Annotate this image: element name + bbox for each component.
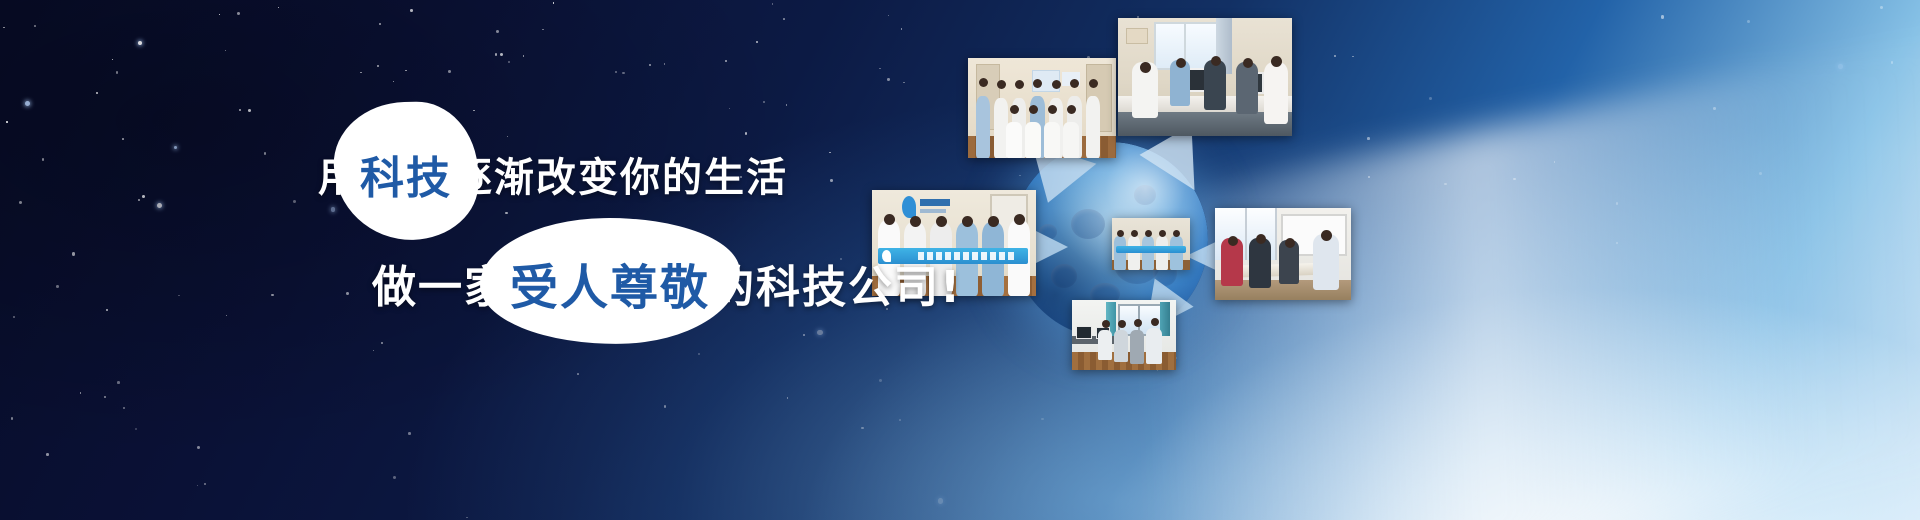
photo-person: [976, 96, 990, 158]
photo-person-head: [1015, 80, 1024, 89]
photo-person-head: [962, 216, 973, 227]
photo-person-head: [1070, 79, 1079, 88]
line2-highlight-group: 受人尊敬: [510, 248, 710, 318]
line1-suffix: 逐渐改变你的生活: [452, 145, 788, 203]
photo-person-head: [936, 216, 947, 227]
photo-team-group-office[interactable]: [968, 58, 1116, 158]
photo-person-head: [1029, 105, 1038, 114]
photo-person: [1146, 328, 1162, 364]
star: [1429, 97, 1432, 100]
photo-person-head: [1052, 80, 1061, 89]
photo-person: [1313, 234, 1339, 290]
photo-person-head: [1010, 105, 1019, 114]
photo-person-head: [1117, 230, 1124, 237]
photo-person-head: [1140, 62, 1151, 73]
photo-person: [1142, 236, 1154, 270]
photo-curtain: [1160, 302, 1170, 336]
photo-person-head: [1067, 105, 1076, 114]
photo-person: [1006, 122, 1022, 158]
photo-person-head: [1256, 234, 1266, 244]
photo-person: [1114, 330, 1128, 362]
photo-person: [1063, 122, 1079, 158]
photo-person: [1098, 330, 1112, 360]
star: [1334, 55, 1336, 57]
line1-highlight-group: 科技: [360, 142, 452, 206]
photo-person-head: [979, 78, 988, 87]
photo-person-head: [1211, 56, 1221, 66]
photo-person-head: [988, 216, 999, 227]
photo-person: [1236, 62, 1258, 114]
photo-person: [1128, 236, 1140, 270]
photo-person: [1204, 60, 1226, 110]
photo-person-head: [1321, 230, 1332, 241]
photo-person: [1130, 330, 1144, 364]
photo-person: [1264, 62, 1288, 124]
photo-person-head: [1048, 105, 1057, 114]
photo-company-logo: [902, 196, 916, 218]
photo-wall-frame: [1126, 28, 1148, 44]
star: [1880, 6, 1883, 9]
photo-person-head: [1014, 214, 1025, 225]
line2-highlight-text: 受人尊敬: [510, 248, 710, 318]
photo-banner-strip: [1116, 246, 1186, 253]
photo-person-head: [1176, 58, 1186, 68]
hero-banner: 用 科技 逐渐改变你的生活 做一家 受人尊敬 的科技公司!: [0, 0, 1920, 520]
photo-monitor: [1076, 326, 1092, 339]
photo-person: [1170, 236, 1183, 270]
photo-person-head: [1271, 56, 1282, 67]
photo-person: [1156, 236, 1168, 270]
photo-window-mullion: [1138, 304, 1140, 332]
photo-person: [1249, 238, 1271, 288]
photo-office-workstations[interactable]: [1118, 18, 1292, 136]
photo-window-mullion: [1245, 208, 1247, 260]
photo-person-head: [1131, 230, 1138, 237]
star: [1367, 137, 1370, 140]
photo-person: [1086, 96, 1100, 158]
line1-highlight-text: 科技: [360, 142, 452, 206]
photo-team-small[interactable]: [1112, 218, 1190, 270]
photo-person: [1025, 122, 1041, 158]
photo-person-head: [1159, 230, 1166, 237]
line2-suffix: 的科技公司!: [710, 251, 962, 315]
headline-copy: 用 科技 逐渐改变你的生活 做一家 受人尊敬 的科技公司!: [0, 0, 900, 520]
star: [1661, 15, 1664, 18]
photo-person: [1044, 122, 1060, 158]
headline-line-1: 用 科技 逐渐改变你的生活: [318, 142, 788, 206]
photo-company-sub: [920, 209, 946, 213]
photo-person-head: [1145, 230, 1152, 237]
photo-person-head: [1089, 79, 1098, 88]
photo-person-head: [1151, 318, 1159, 326]
photo-person-head: [1033, 79, 1042, 88]
photo-person-head: [1243, 58, 1253, 68]
photo-person-head: [1173, 230, 1180, 237]
photo-person-head: [1134, 319, 1142, 327]
photo-person-head: [1118, 320, 1126, 328]
photo-person-head: [1102, 320, 1110, 328]
photo-person-head: [1285, 238, 1295, 248]
photo-meeting-room[interactable]: [1215, 208, 1351, 300]
photo-person-head: [1228, 236, 1238, 246]
star: [901, 28, 903, 30]
headline-line-2: 做一家 受人尊敬 的科技公司!: [372, 248, 962, 318]
photo-person: [1114, 236, 1126, 270]
photo-computer-lab[interactable]: [1072, 300, 1176, 370]
photo-person-head: [997, 80, 1006, 89]
photo-person-head: [910, 216, 921, 227]
photo-company-name: [920, 199, 950, 206]
